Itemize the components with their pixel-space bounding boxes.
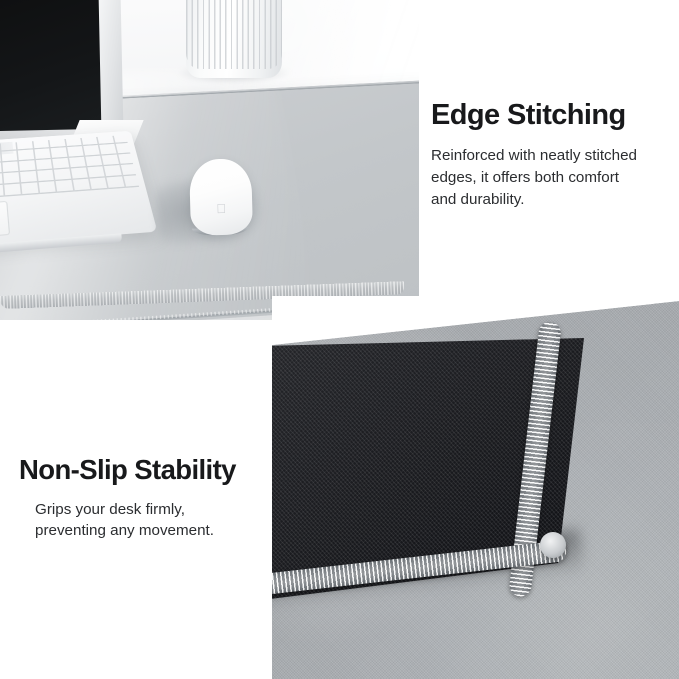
photo-underside-corner (272, 296, 679, 679)
non-slip-body-line-2: preventing any movement. (35, 522, 214, 539)
edge-stitching-heading: Edge Stitching (431, 100, 675, 130)
non-slip-body-line-1: Grips your desk firmly, (35, 501, 185, 518)
photo-desk-scene:  (0, 0, 419, 320)
edge-stitching-body: Reinforced with neatly stitched edges, i… (431, 145, 675, 210)
coffee-mug-ribs (186, 0, 282, 69)
feature-block-edge-stitching: Edge Stitching Reinforced with neatly st… (431, 100, 675, 210)
edge-stitching-body-line-2: edges, it offers both comfort (431, 169, 619, 186)
edge-stitching-body-line-3: and durability. (431, 191, 524, 208)
feature-block-non-slip-stability: Non-Slip Stability Grips your desk firml… (19, 456, 269, 542)
keyboard-keys (0, 135, 139, 203)
keyboard-spacebar (0, 201, 10, 242)
non-slip-stability-heading: Non-Slip Stability (19, 456, 269, 485)
monitor-bezel (98, 0, 123, 138)
edge-stitching-body-line-1: Reinforced with neatly stitched (431, 147, 637, 164)
non-slip-stability-body: Grips your desk firmly, preventing any m… (35, 499, 269, 542)
magic-mouse:  (189, 158, 253, 236)
coffee-mug (186, 0, 282, 78)
stitched-edge-corner (540, 532, 566, 558)
monitor-screen (0, 0, 109, 131)
feature-panel-canvas:  Edge Stitching Reinforced with neatly … (0, 0, 679, 679)
apple-logo-icon:  (216, 201, 227, 214)
magic-keyboard (0, 131, 157, 251)
